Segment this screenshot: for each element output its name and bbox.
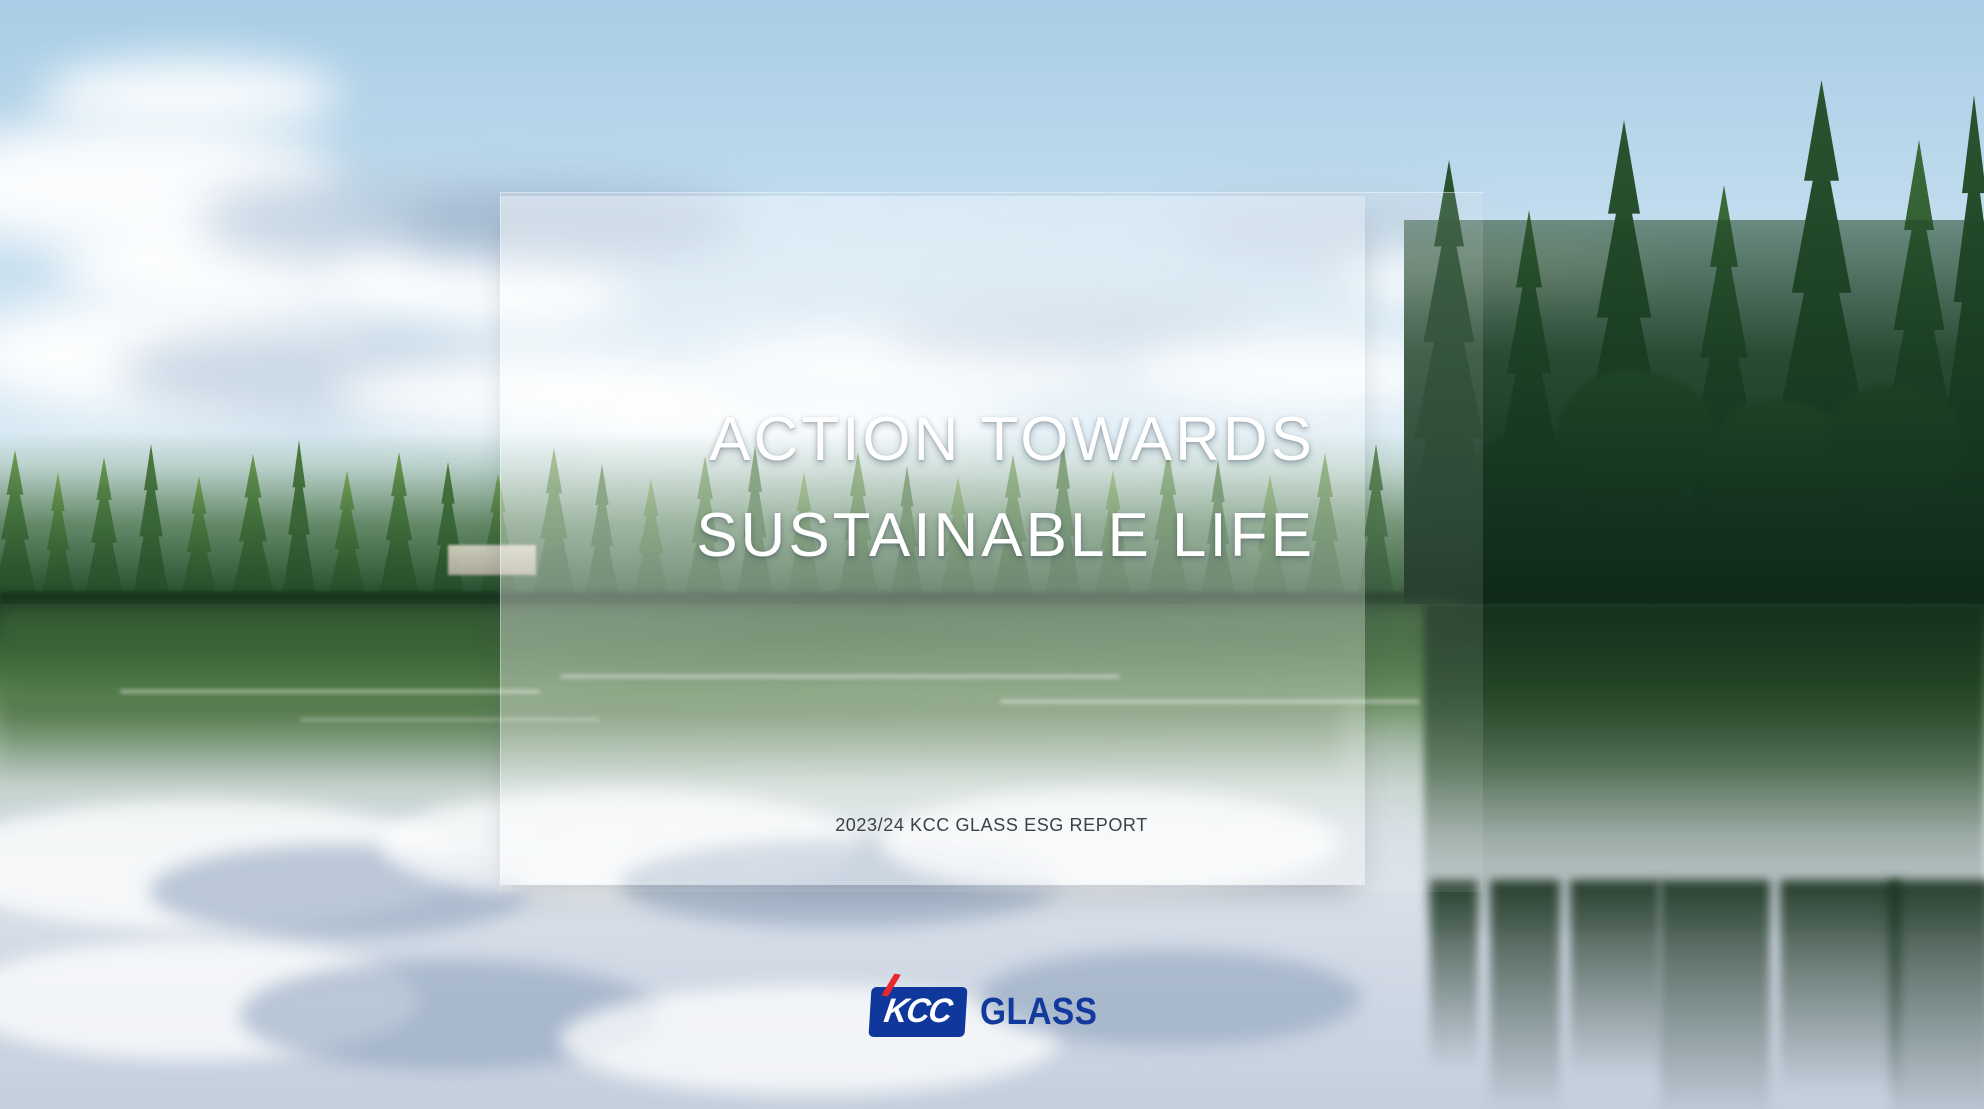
title-line-2: SUSTAINABLE LIFE [500,488,1315,584]
title-line-1: ACTION TOWARDS [500,392,1315,488]
kcc-glass-logo: KCC GLASS [0,980,1984,1044]
cover-subtitle: 2023/24 KCC GLASS ESG REPORT [500,815,1483,836]
cover-title: ACTION TOWARDS SUSTAINABLE LIFE [500,392,1315,584]
glass-wordmark: GLASS [980,993,1097,1031]
near-forest-right [1404,40,1984,640]
kcc-logo-text: KCC [882,994,954,1030]
kcc-logo-mark: KCC [869,987,968,1037]
